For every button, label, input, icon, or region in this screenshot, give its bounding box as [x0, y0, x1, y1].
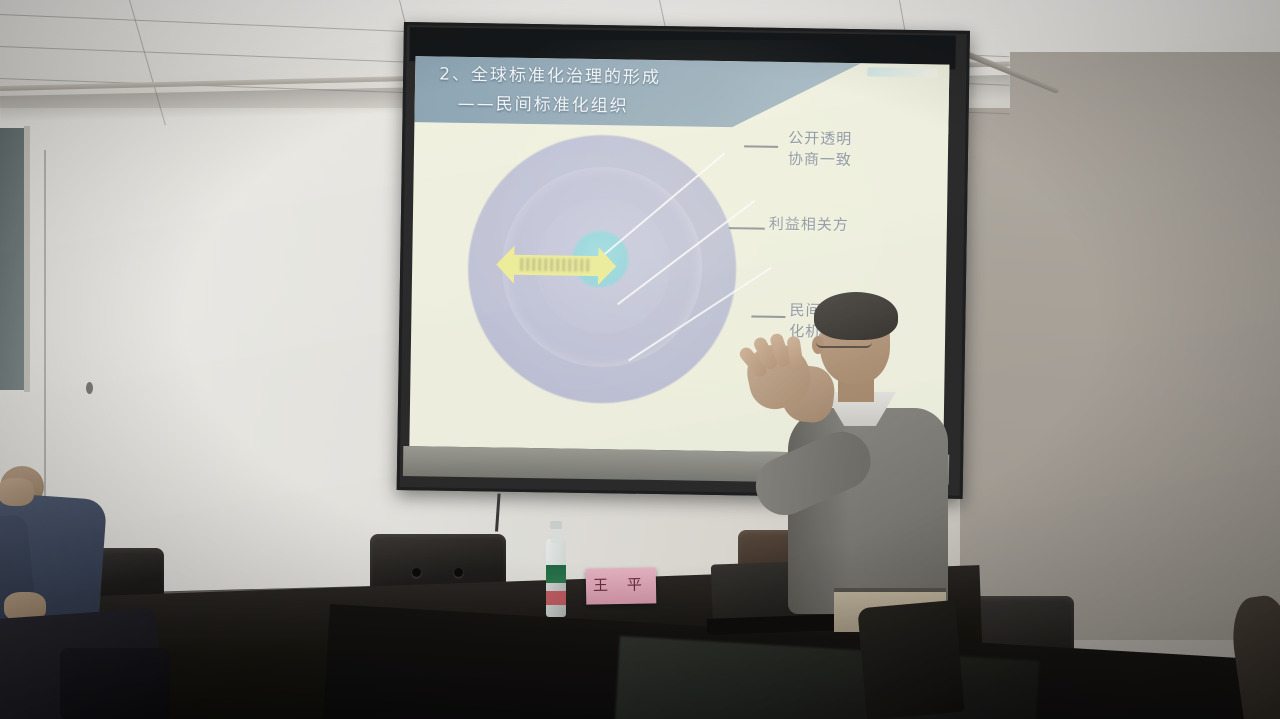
chair-button [412, 568, 421, 577]
name-card-text: 王 平 [586, 573, 656, 595]
bottle-neck [551, 527, 561, 543]
chair-button [454, 568, 463, 577]
slide-logo-icon [867, 67, 937, 77]
leader-tick-1 [744, 145, 778, 148]
bottle-label-lower [546, 591, 566, 605]
influence-arrow [496, 245, 617, 285]
arrow-label [520, 258, 592, 272]
water-bottle[interactable] [544, 521, 568, 617]
finger [786, 335, 804, 370]
left-panel-edge [24, 126, 30, 392]
presenter-hair [814, 292, 898, 340]
coat-on-chair [857, 600, 964, 719]
photo-scene: 2、全球标准化治理的形成 ——民间标准化组织 公开透明 协商一致 利益 [0, 0, 1280, 719]
foreground-dark-object-2 [60, 648, 170, 719]
wall-mark [86, 382, 93, 394]
presenter-glasses [816, 334, 872, 348]
arrow-head-left [496, 245, 515, 283]
leader-tick-2 [729, 227, 765, 230]
slide-title: 2、全球标准化治理的形成 ——民间标准化组织 [438, 61, 839, 125]
diagram-label-2: 利益相关方 [769, 214, 849, 236]
left-wall-panel [0, 128, 26, 390]
bottle-cap [550, 521, 562, 529]
presenter [742, 292, 972, 632]
name-card: 王 平 [586, 567, 657, 604]
wall-seam [44, 150, 46, 520]
diagram-label-1: 公开透明 协商一致 [788, 128, 853, 171]
bottle-label [546, 565, 566, 583]
arrow-head-right [598, 247, 617, 285]
attendee-hand-raised [0, 478, 34, 506]
